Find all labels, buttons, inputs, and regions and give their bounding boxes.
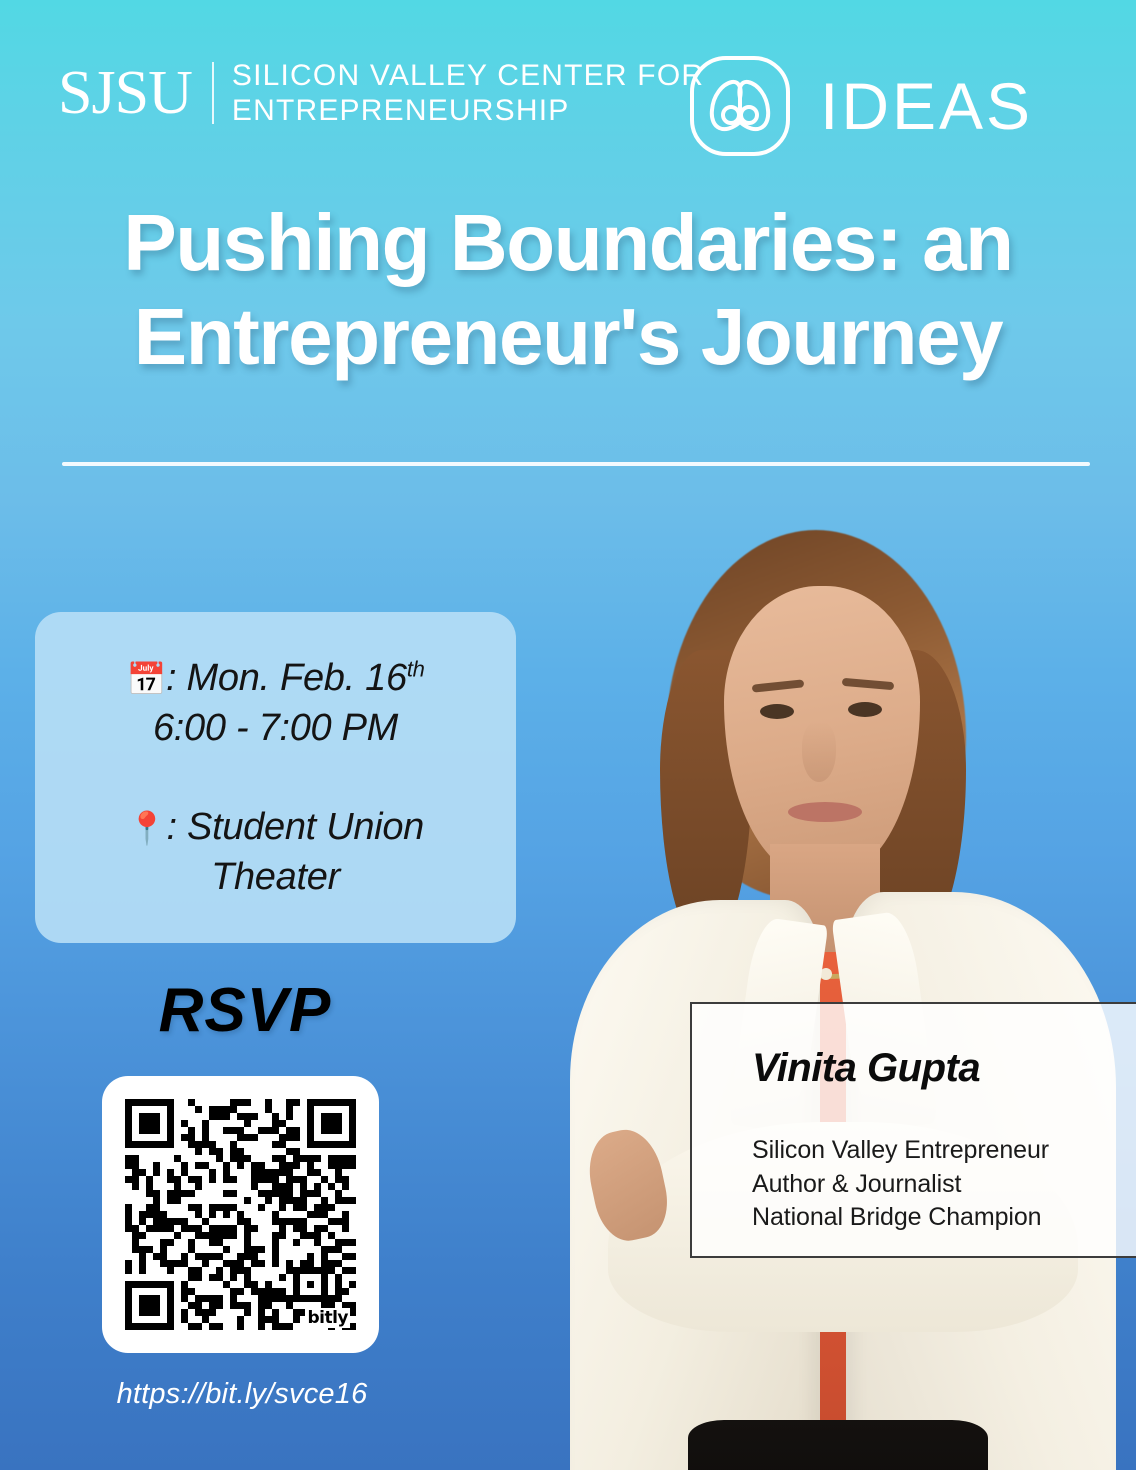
speaker-credentials: Silicon Valley Entrepreneur Author & Jou…: [752, 1134, 1136, 1235]
title-line-1: Pushing Boundaries: an: [48, 196, 1088, 290]
speaker-name: Vinita Gupta: [752, 1048, 1136, 1088]
credential-line: National Bridge Champion: [752, 1201, 1136, 1235]
title-line-2: Entrepreneur's Journey: [48, 290, 1088, 384]
bitly-logo: bitly: [305, 1308, 350, 1328]
butterfly-icon: [686, 52, 794, 160]
logo-divider: [212, 62, 214, 124]
credential-line: Author & Journalist: [752, 1168, 1136, 1202]
location-group: 📍: Student Union Theater: [127, 802, 424, 902]
event-date-suffix: th: [407, 657, 425, 682]
sjsu-wordmark: SJSU: [58, 62, 192, 124]
event-location-line1: 📍: Student Union: [127, 802, 424, 852]
ideas-logo: IDEAS: [686, 52, 1033, 160]
event-time: 6:00 - 7:00 PM: [126, 703, 424, 753]
rsvp-heading: RSVP: [110, 975, 380, 1046]
sjsu-subtitle: Silicon Valley Center for Entrepreneursh…: [232, 58, 704, 129]
event-date-text: : Mon. Feb. 16: [166, 657, 407, 699]
speaker-info-card: Vinita Gupta Silicon Valley Entrepreneur…: [690, 1002, 1136, 1258]
event-poster: SJSU Silicon Valley Center for Entrepren…: [0, 0, 1136, 1470]
sjsu-subtitle-line1: Silicon Valley Center for: [232, 58, 704, 93]
credential-line: Silicon Valley Entrepreneur: [752, 1134, 1136, 1168]
event-details-card: 📅: Mon. Feb. 16th 6:00 - 7:00 PM 📍: Stud…: [35, 612, 516, 943]
qr-code[interactable]: bitly: [125, 1099, 356, 1330]
title-divider: [62, 462, 1090, 466]
sjsu-subtitle-line2: Entrepreneurship: [232, 93, 704, 128]
event-date: 📅: Mon. Feb. 16th: [126, 653, 424, 703]
page-title: Pushing Boundaries: an Entrepreneur's Jo…: [0, 196, 1136, 383]
sjsu-logo: SJSU Silicon Valley Center for Entrepren…: [58, 58, 704, 129]
speaker-photo: [556, 500, 1136, 1470]
event-location-line2: Theater: [127, 852, 424, 902]
map-pin-icon: 📍: [127, 810, 167, 846]
ideas-wordmark: IDEAS: [820, 73, 1033, 139]
qr-code-card[interactable]: bitly: [102, 1076, 379, 1353]
date-time-group: 📅: Mon. Feb. 16th 6:00 - 7:00 PM: [126, 653, 424, 753]
rsvp-url[interactable]: https://bit.ly/svce16: [102, 1378, 382, 1411]
event-location-text: : Student Union: [167, 806, 424, 848]
calendar-icon: 📅: [126, 661, 166, 697]
poster-header: SJSU Silicon Valley Center for Entrepren…: [0, 52, 1136, 162]
